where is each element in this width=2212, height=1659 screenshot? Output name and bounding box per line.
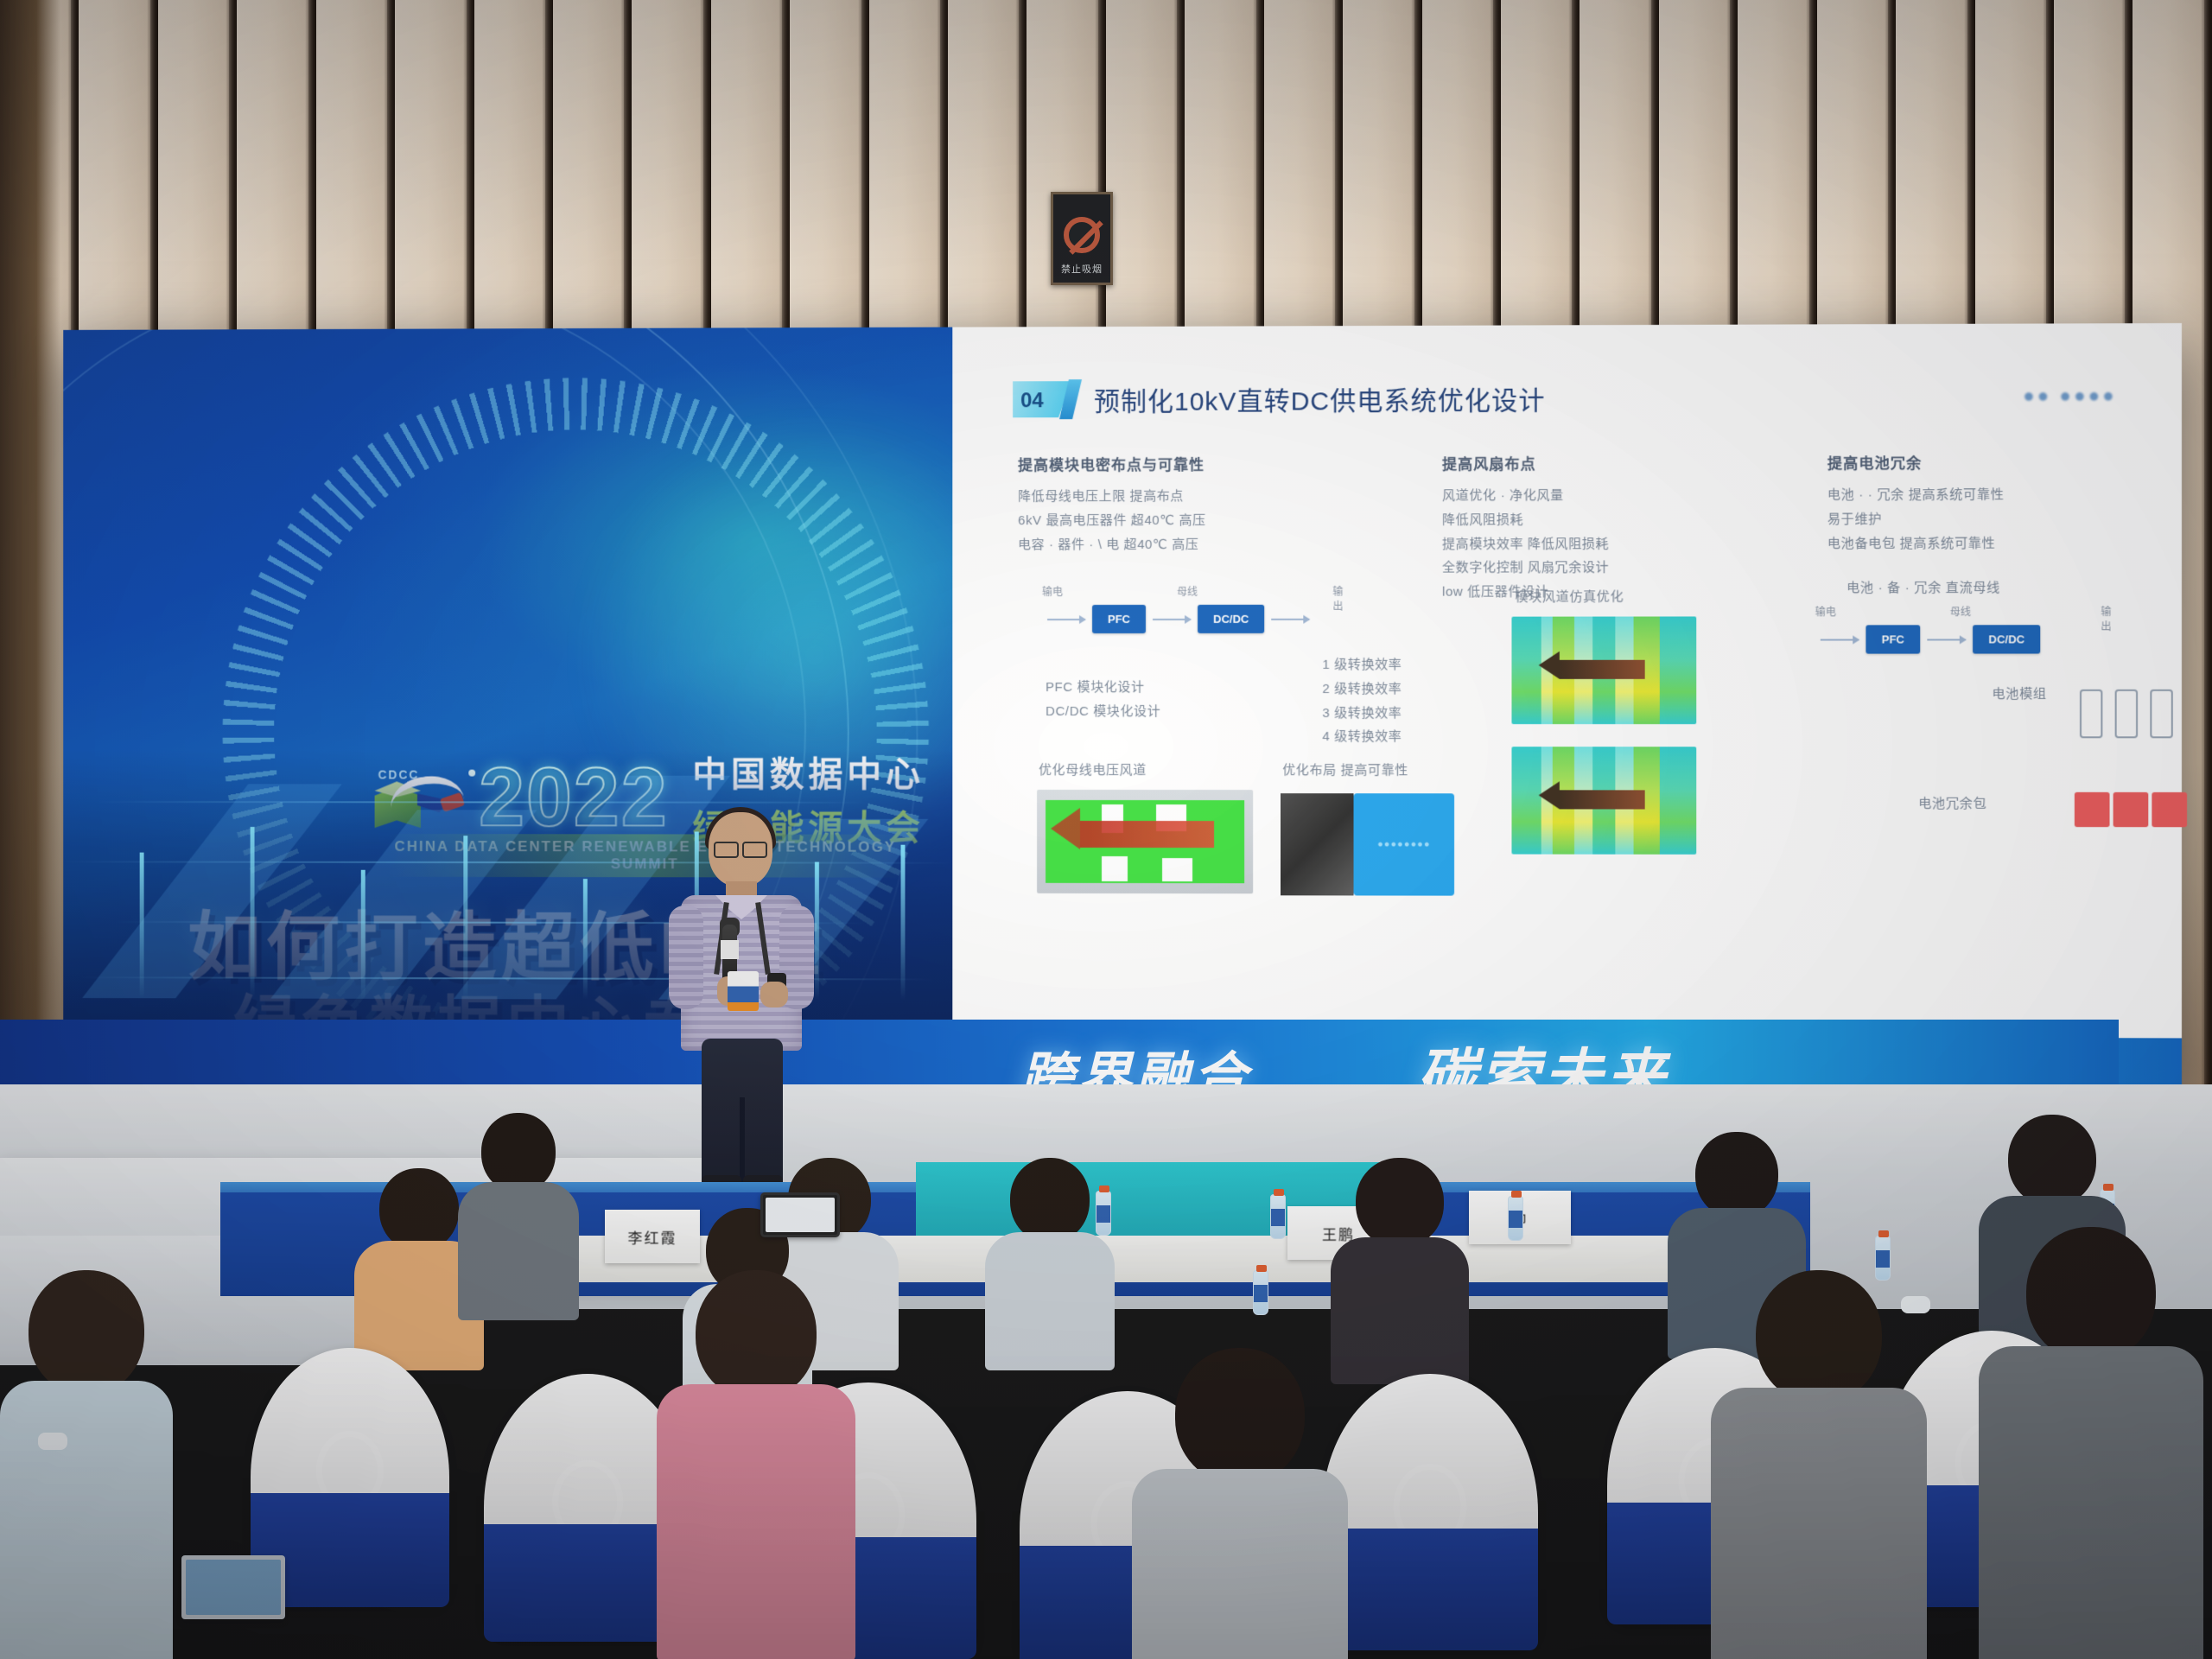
column-2-line-4: 全数字化控制 风扇冗余设计 bbox=[1442, 556, 1773, 580]
microphone-flag bbox=[721, 940, 739, 959]
flow-right-output-label: 输出 bbox=[2101, 604, 2111, 633]
cfd-figure-caption: 模块风道仿真优化 bbox=[1516, 585, 1777, 609]
column-3-line-3: 电池备电包 提高系统可靠性 bbox=[1827, 531, 2152, 556]
audience-person-2 bbox=[458, 1113, 579, 1312]
flow-left-notes: PFC 模块化设计 DC/DC 模块化设计 bbox=[1046, 676, 1322, 724]
audience-person-4-head bbox=[1010, 1158, 1090, 1243]
presenter-arm-left bbox=[669, 906, 703, 1009]
glasses-icon bbox=[714, 842, 767, 855]
cfd-top-flow-arrow-icon bbox=[1560, 659, 1644, 678]
slide-section-badge: 04 bbox=[1013, 381, 1071, 417]
flow-left-arrow-1 bbox=[1047, 619, 1085, 620]
flow-right-block-pfc: PFC bbox=[1866, 625, 1920, 653]
audience-person-5-head bbox=[1356, 1158, 1444, 1248]
slide-header: 04 预制化10kV直转DC供电系统优化设计 bbox=[1013, 379, 1545, 419]
smartphone-screen bbox=[766, 1198, 835, 1232]
battery-module-3 bbox=[2150, 690, 2172, 739]
column-1-heading: 提高模块电密布点与可靠性 bbox=[1018, 452, 1363, 474]
audience-foreground-5 bbox=[0, 1270, 173, 1659]
cfd-simulation-bottom bbox=[1511, 747, 1696, 855]
battery-pack-1 bbox=[2075, 792, 2110, 827]
flow-left-block-pfc: PFC bbox=[1092, 605, 1146, 633]
slide-column-2: 提高风扇布点 风道优化 · 净化风量 降低风阻损耗 提高模块效率 降低风阻损耗 … bbox=[1442, 451, 1773, 604]
audience-foreground-4 bbox=[1979, 1227, 2203, 1659]
no-smoking-label: 禁止吸烟 bbox=[1053, 262, 1110, 276]
foreground-5-body bbox=[0, 1381, 173, 1659]
column-2-heading: 提高风扇布点 bbox=[1442, 451, 1773, 474]
chair-5 bbox=[1322, 1374, 1538, 1650]
foreground-4-body bbox=[1979, 1346, 2203, 1659]
namecard-1-text: 李红霞 bbox=[628, 1226, 677, 1248]
pcb-thermal-figure bbox=[1037, 790, 1253, 893]
audience-foreground-2 bbox=[1132, 1348, 1348, 1659]
column-3-line-1: 电池 · · 冗余 提高系统可靠性 bbox=[1827, 483, 2152, 508]
power-flow-diagram-left: 输电 PFC 母线 DC/DC 输出 bbox=[1047, 605, 1309, 633]
column-2-line-3: 提高模块效率 降低风阻损耗 bbox=[1442, 531, 1773, 556]
audience-person-7-head bbox=[2008, 1115, 2096, 1206]
water-bottle-1 bbox=[1270, 1194, 1286, 1239]
foreground-1-body bbox=[657, 1384, 855, 1659]
audience-foreground-3 bbox=[1711, 1270, 1927, 1659]
presenter-hand-right bbox=[760, 982, 788, 1007]
module-photo-figure: ●●●●●●●● bbox=[1281, 793, 1454, 895]
flow-left-mid-label: 母线 bbox=[1177, 584, 1198, 599]
slide-vendor-logo: ●● ●●●● bbox=[2023, 385, 2117, 407]
module-figure-caption: 优化布局 提高可靠性 bbox=[1282, 759, 1542, 783]
presenter bbox=[664, 812, 819, 1184]
foreground-2-head bbox=[1175, 1348, 1305, 1484]
cfd-bottom-flow-arrow-icon bbox=[1560, 790, 1644, 809]
face-mask-2 bbox=[1901, 1296, 1930, 1313]
flow-right-bottom-label: 电池冗余包 bbox=[1918, 792, 2094, 817]
no-smoking-icon bbox=[1064, 217, 1100, 253]
flow-left-block-dcdc: DC/DC bbox=[1198, 605, 1264, 633]
slide-column-3: 提高电池冗余 电池 · · 冗余 提高系统可靠性 易于维护 电池备电包 提高系统… bbox=[1827, 450, 2152, 556]
flow-right-input-label: 输电 bbox=[1815, 604, 1836, 619]
cfd-simulation-top bbox=[1511, 616, 1696, 724]
foreground-3-body bbox=[1711, 1388, 1927, 1659]
flow-right-caption-wrap: 电池 · 备 · 冗余 直流母线 bbox=[1847, 576, 2145, 601]
flow-right-arrow-2 bbox=[1927, 639, 1966, 640]
pcb-figure-caption-wrap: 优化母线电压风道 bbox=[1039, 759, 1298, 783]
water-bottle-3 bbox=[1253, 1270, 1268, 1315]
column-2-line-2: 降低风阻损耗 bbox=[1442, 507, 1773, 531]
column-1-line-1: 降低母线电压上限 提高布点 bbox=[1018, 484, 1363, 508]
battery-pack-3 bbox=[2152, 792, 2187, 827]
presentation-slide: 04 预制化10kV直转DC供电系统优化设计 ●● ●●●● 提高模块电密布点与… bbox=[952, 323, 2182, 1038]
power-flow-diagram-right: 输电 PFC 母线 DC/DC 输出 bbox=[1821, 625, 2041, 653]
flow-right-mid-label: 母线 bbox=[1950, 604, 1971, 619]
flow-left-note-2: DC/DC 模块化设计 bbox=[1046, 700, 1322, 724]
module-figure-caption-wrap: 优化布局 提高可靠性 bbox=[1282, 759, 1542, 783]
flow-left-arrow-3 bbox=[1271, 618, 1309, 620]
flow-right-block-dcdc: DC/DC bbox=[1973, 625, 2040, 653]
column-3-heading: 提高电池冗余 bbox=[1827, 450, 2152, 473]
audience-person-5 bbox=[1331, 1158, 1469, 1374]
audience-person-2-head bbox=[481, 1113, 556, 1192]
column-1-line-2: 6kV 最高电压器件 超40℃ 高压 bbox=[1018, 508, 1363, 532]
foreground-2-body bbox=[1132, 1469, 1348, 1659]
conference-photo: 禁止吸烟 CDCC 2022 bbox=[0, 0, 2212, 1659]
audience-person-1-head bbox=[379, 1168, 459, 1251]
no-smoking-sign: 禁止吸烟 bbox=[1051, 192, 1113, 285]
smartphone-recording[interactable] bbox=[760, 1192, 840, 1237]
water-bottle-4 bbox=[1508, 1196, 1523, 1241]
pcb-airflow-arrow-icon bbox=[1080, 821, 1214, 848]
lanyard-badge bbox=[728, 971, 759, 1011]
laptop-screen bbox=[186, 1560, 281, 1615]
slide-title: 预制化10kV直转DC供电系统优化设计 bbox=[1094, 379, 1545, 418]
cfd-caption-wrap: 模块风道仿真优化 bbox=[1516, 585, 1777, 609]
audience-person-4-body bbox=[985, 1232, 1115, 1370]
flow-left-output-label: 输出 bbox=[1332, 584, 1343, 613]
audience-foreground-1 bbox=[657, 1270, 855, 1659]
face-mask-1 bbox=[38, 1433, 67, 1450]
foreground-3-head bbox=[1756, 1270, 1882, 1403]
foreground-5-head bbox=[29, 1270, 144, 1395]
column-2-line-1: 风道优化 · 净化风量 bbox=[1442, 484, 1773, 509]
flow-left-bullet-4: 4 级转换效率 bbox=[1322, 725, 1548, 749]
battery-module-2 bbox=[2115, 690, 2138, 738]
audience-person-2-body bbox=[458, 1182, 579, 1320]
pcb-figure-caption: 优化母线电压风道 bbox=[1039, 759, 1298, 783]
battery-module-1 bbox=[2080, 690, 2102, 738]
battery-pack-2 bbox=[2113, 792, 2149, 827]
flow-left-input-label: 输电 bbox=[1042, 584, 1063, 599]
flow-left-arrow-2 bbox=[1153, 618, 1191, 620]
flow-right-bottom-wrap: 电池冗余包 bbox=[1918, 792, 2094, 817]
flow-right-caption: 电池 · 备 · 冗余 直流母线 bbox=[1847, 576, 2145, 601]
foreground-1-head bbox=[696, 1270, 817, 1400]
flow-right-arrow-1 bbox=[1821, 639, 1859, 640]
presenter-leg-split bbox=[740, 1097, 745, 1184]
led-screen: CDCC 2022 中国数据中心 绿色能源大会 CHINA DATA CENTE… bbox=[63, 323, 2182, 1090]
laptop[interactable] bbox=[181, 1555, 285, 1619]
audience-person-6-head bbox=[1695, 1132, 1778, 1218]
column-3-line-2: 易于维护 bbox=[1827, 507, 2152, 532]
module-photo-left bbox=[1281, 793, 1353, 895]
foreground-4-head bbox=[2026, 1227, 2156, 1362]
chair-5-sash bbox=[1322, 1529, 1538, 1650]
audience-person-5-body bbox=[1331, 1237, 1469, 1384]
module-photo-right: ●●●●●●●● bbox=[1354, 793, 1455, 895]
column-1-line-3: 电容 · 器件 · \ 电 超40℃ 高压 bbox=[1018, 532, 1363, 556]
audience-person-4 bbox=[985, 1158, 1115, 1365]
slide-section-number: 04 bbox=[1020, 389, 1044, 413]
flow-left-note-1: PFC 模块化设计 bbox=[1046, 676, 1322, 700]
slide-column-1: 提高模块电密布点与可靠性 降低母线电压上限 提高布点 6kV 最高电压器件 超4… bbox=[1018, 452, 1363, 556]
